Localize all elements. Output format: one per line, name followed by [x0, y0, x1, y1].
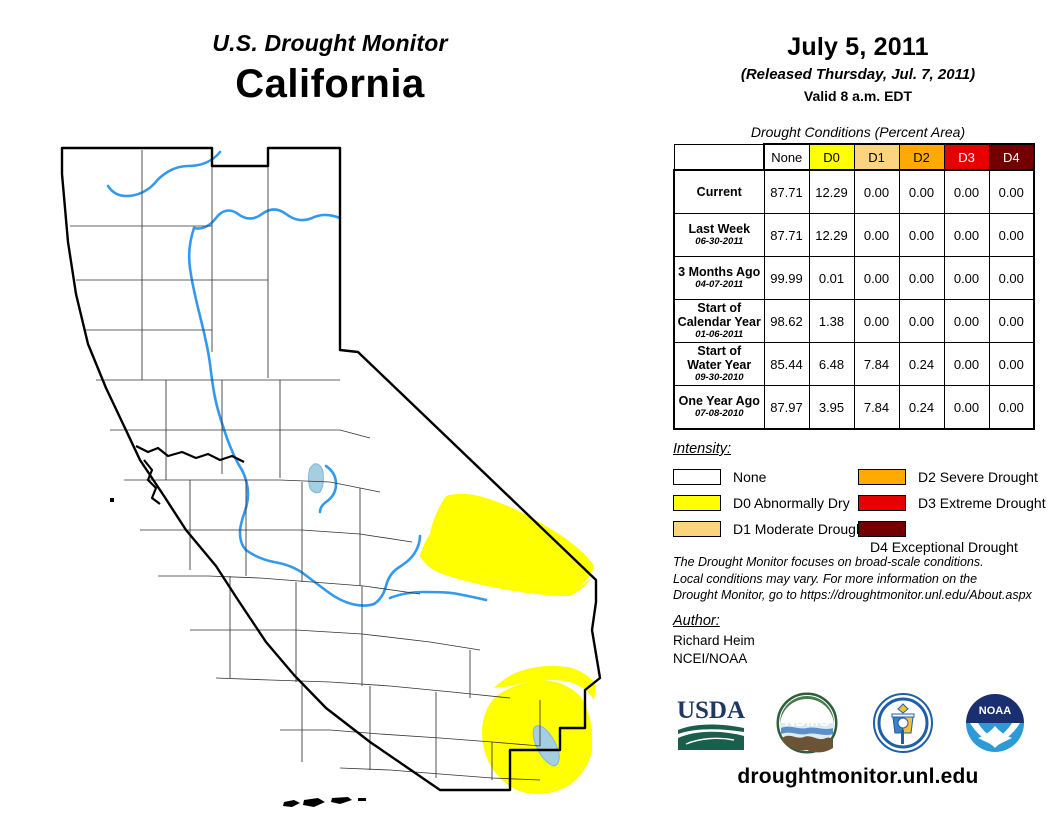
table-row: Start ofCalendar Year 01-06-2011 98.62 1… — [674, 300, 1034, 343]
legend-item-d4: D4 Exceptional Drought — [858, 520, 1056, 538]
table-row: 3 Months Ago 04-07-2011 99.99 0.01 0.00 … — [674, 257, 1034, 300]
cell-d2: 0.00 — [899, 170, 944, 214]
cell-d3: 0.00 — [944, 257, 989, 300]
row-label-start-of-water-year: Start ofWater Year 09-30-2010 — [674, 343, 764, 386]
site-url[interactable]: droughtmonitor.unl.edu — [660, 765, 1056, 789]
cell-none: 98.62 — [764, 300, 809, 343]
legend-item-d0: D0 Abnormally Dry — [673, 494, 850, 512]
legend-label-d4: D4 Exceptional Drought — [870, 539, 1018, 555]
page-title-state: California — [0, 62, 660, 107]
table-caption: Drought Conditions (Percent Area) — [660, 124, 1056, 140]
table-row: Current 87.71 12.29 0.00 0.00 0.00 0.00 — [674, 170, 1034, 214]
santa-cruz-island — [331, 797, 352, 804]
release-note: (Released Thursday, Jul. 7, 2011) — [660, 66, 1056, 83]
table-row: One Year Ago 07-08-2010 87.97 3.95 7.84 … — [674, 386, 1034, 430]
usda-logo-text: USDA — [677, 697, 745, 724]
column-header-d1: D1 — [854, 144, 899, 170]
table-row: Last Week 06-30-2011 87.71 12.29 0.00 0.… — [674, 214, 1034, 257]
legend-item-d3: D3 Extreme Drought — [858, 494, 1046, 512]
cell-d0: 12.29 — [809, 214, 854, 257]
ndmc-logo: NDMC — [772, 692, 842, 754]
cell-d4: 0.00 — [989, 214, 1034, 257]
row-label-start-of-calendar-year: Start ofCalendar Year 01-06-2011 — [674, 300, 764, 343]
cell-d3: 0.00 — [944, 386, 989, 430]
author-name: Richard Heim — [673, 633, 755, 648]
cell-d4: 0.00 — [989, 257, 1034, 300]
row-label-last-week: Last Week 06-30-2011 — [674, 214, 764, 257]
santa-rosa-island — [303, 798, 325, 807]
usdc-logo — [870, 692, 936, 754]
author-org: NCEI/NOAA — [673, 651, 747, 666]
cell-d0: 12.29 — [809, 170, 854, 214]
row-label-3-months-ago: 3 Months Ago 04-07-2011 — [674, 257, 764, 300]
cell-none: 87.71 — [764, 214, 809, 257]
row-label-text: Start ofCalendar Year — [678, 301, 761, 329]
legend-label-none: None — [733, 469, 766, 485]
legend-swatch-d4 — [858, 521, 906, 537]
cell-d0: 6.48 — [809, 343, 854, 386]
row-label-one-year-ago: One Year Ago 07-08-2010 — [674, 386, 764, 430]
table-body: Current 87.71 12.29 0.00 0.00 0.00 0.00 … — [674, 170, 1034, 429]
row-label-text: Current — [697, 185, 742, 199]
cell-d3: 0.00 — [944, 170, 989, 214]
row-label-text: Start ofWater Year — [687, 344, 751, 372]
legend-label-d0: D0 Abnormally Dry — [733, 495, 850, 511]
lake-tahoe — [309, 464, 324, 493]
table-row: Start ofWater Year 09-30-2010 85.44 6.48… — [674, 343, 1034, 386]
release-date: July 5, 2011 — [660, 33, 1056, 62]
noaa-logo-text: NOAA — [979, 705, 1011, 717]
column-header-d4: D4 — [989, 144, 1034, 170]
ndmc-logo-text: NDMC — [785, 713, 830, 730]
legend-item-d2: D2 Severe Drought — [858, 468, 1038, 486]
cell-none: 87.97 — [764, 386, 809, 430]
row-label-date: 07-08-2010 — [675, 409, 764, 420]
column-header-d2: D2 — [899, 144, 944, 170]
legend-swatch-d3 — [858, 495, 906, 511]
san-miguel-island — [283, 800, 300, 807]
cell-d0: 1.38 — [809, 300, 854, 343]
partner-logos: USDA NDMC — [660, 692, 1056, 758]
cell-d4: 0.00 — [989, 170, 1034, 214]
california-drought-map — [40, 130, 660, 810]
cell-d2: 0.00 — [899, 257, 944, 300]
row-label-text: One Year Ago — [679, 394, 760, 408]
row-label-date: 04-07-2011 — [675, 280, 764, 291]
anacapa-island — [358, 798, 366, 801]
page-title-subtitle: U.S. Drought Monitor — [0, 30, 660, 57]
disclaimer-footnote: The Drought Monitor focuses on broad-sca… — [673, 554, 1053, 604]
column-header-d0: D0 — [809, 144, 854, 170]
cell-d4: 0.00 — [989, 386, 1034, 430]
column-header-none: None — [764, 144, 809, 170]
cell-d0: 0.01 — [809, 257, 854, 300]
footnote-line-3: Drought Monitor, go to https://droughtmo… — [673, 587, 1053, 604]
legend-swatch-d2 — [858, 469, 906, 485]
cell-d3: 0.00 — [944, 214, 989, 257]
cell-d2: 0.24 — [899, 343, 944, 386]
cell-d2: 0.00 — [899, 214, 944, 257]
valid-note: Valid 8 a.m. EDT — [660, 88, 1056, 104]
legend-label-d1: D1 Moderate Drought — [733, 521, 868, 537]
cell-none: 85.44 — [764, 343, 809, 386]
noaa-logo: NOAA — [960, 692, 1030, 754]
legend-swatch-d1 — [673, 521, 721, 537]
cell-d1: 0.00 — [854, 257, 899, 300]
legend-item-none: None — [673, 468, 766, 486]
table-corner-cell — [674, 144, 764, 170]
author-title: Author: — [673, 613, 720, 629]
table-header-row: None D0 D1 D2 D3 D4 — [674, 144, 1034, 170]
cell-d4: 0.00 — [989, 343, 1034, 386]
cell-none: 99.99 — [764, 257, 809, 300]
row-label-text: Last Week — [688, 222, 750, 236]
cell-d1: 0.00 — [854, 170, 899, 214]
cell-d1: 7.84 — [854, 343, 899, 386]
farallon-islands — [110, 498, 114, 502]
legend-item-d1: D1 Moderate Drought — [673, 520, 868, 538]
legend-label-d2: D2 Severe Drought — [918, 469, 1038, 485]
legend-label-d3: D3 Extreme Drought — [918, 495, 1046, 511]
cell-none: 87.71 — [764, 170, 809, 214]
map-svg — [40, 130, 660, 810]
column-header-d3: D3 — [944, 144, 989, 170]
row-label-current: Current — [674, 170, 764, 214]
drought-conditions-table: None D0 D1 D2 D3 D4 Current 87.71 12.29 … — [673, 143, 1035, 430]
row-label-date: 01-06-2011 — [675, 330, 764, 341]
cell-d1: 0.00 — [854, 300, 899, 343]
footnote-line-1: The Drought Monitor focuses on broad-sca… — [673, 554, 1053, 571]
footnote-line-2: Local conditions may vary. For more info… — [673, 571, 1053, 588]
row-label-text: 3 Months Ago — [678, 265, 760, 279]
cell-d0: 3.95 — [809, 386, 854, 430]
info-panel: July 5, 2011 (Released Thursday, Jul. 7,… — [660, 0, 1056, 816]
legend-swatch-d0 — [673, 495, 721, 511]
cell-d3: 0.00 — [944, 300, 989, 343]
cell-d1: 0.00 — [854, 214, 899, 257]
cell-d4: 0.00 — [989, 300, 1034, 343]
row-label-date: 09-30-2010 — [675, 373, 764, 384]
cell-d2: 0.00 — [899, 300, 944, 343]
intensity-legend-title: Intensity: — [673, 441, 731, 457]
cell-d3: 0.00 — [944, 343, 989, 386]
row-label-date: 06-30-2011 — [675, 237, 764, 248]
usda-logo: USDA — [672, 692, 750, 754]
drought-monitor-page: U.S. Drought Monitor California — [0, 0, 1056, 816]
cell-d2: 0.24 — [899, 386, 944, 430]
cell-d1: 7.84 — [854, 386, 899, 430]
legend-swatch-none — [673, 469, 721, 485]
